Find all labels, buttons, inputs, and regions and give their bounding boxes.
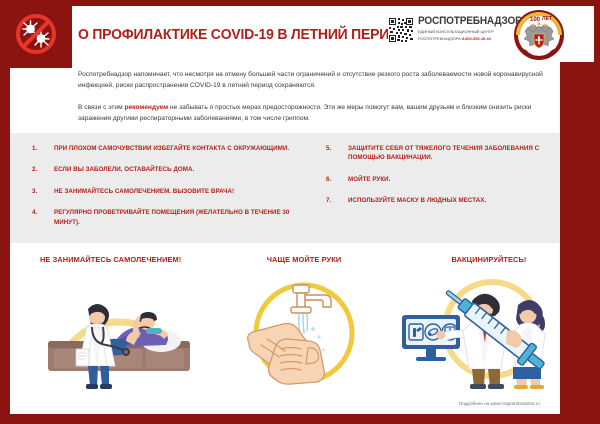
hotline-phone: 8-800-555-49-43 <box>462 36 491 41</box>
tip-text: ЕСЛИ ВЫ ЗАБОЛЕЛИ, ОСТАВАЙТЕСЬ ДОМА. <box>54 166 194 173</box>
org-subtitle-line1: ЕДИНЫЙ КОНСУЛЬТАЦИОННЫЙ ЦЕНТР <box>418 29 518 34</box>
no-virus-icon <box>12 10 60 58</box>
tips-column-right: 5. ЗАЩИТИТЕ СЕБЯ ОТ ТЯЖЕЛОГО ТЕЧЕНИЯ ЗАБ… <box>326 144 576 218</box>
section-title: ВАКЦИНИРУЙТЕСЬ! <box>400 255 578 264</box>
tip-number: 1. <box>32 144 48 153</box>
tip-number: 6. <box>326 175 342 184</box>
tip-item: 1. ПРИ ПЛОХОМ САМОЧУВСТВИИ ИЗБЕГАЙТЕ КОН… <box>32 144 312 153</box>
org-identity: РОСПОТРЕБНАДЗОР ЕДИНЫЙ КОНСУЛЬТАЦИОННЫЙ … <box>418 15 518 41</box>
tip-text: ПРИ ПЛОХОМ САМОЧУВСТВИИ ИЗБЕГАЙТЕ КОНТАК… <box>54 145 289 152</box>
org-subtitle-prefix: РОСПОТРЕБНАДЗОРА <box>418 36 461 41</box>
intro-text: Роспотребнадзор напоминает, что несмотря… <box>78 70 544 124</box>
footer-note: Подробнее на www.rospotrebnadzor.ru <box>0 401 552 406</box>
tip-number: 7. <box>326 196 342 205</box>
rospotrebnadzor-emblem-icon: 100 ЛЕТ <box>508 8 570 62</box>
header: О ПРОФИЛАКТИКЕ COVID-19 В ЛЕТНИЙ ПЕРИОД <box>0 0 600 68</box>
doctor-examining-patient-illustration <box>30 271 208 389</box>
washing-hands-under-tap-illustration <box>215 271 393 389</box>
tip-text: МОЙТЕ РУКИ. <box>348 176 390 183</box>
section-wash-hands: ЧАЩЕ МОЙТЕ РУКИ <box>215 255 393 400</box>
tip-text: ЗАЩИТИТЕ СЕБЯ ОТ ТЯЖЕЛОГО ТЕЧЕНИЯ ЗАБОЛЕ… <box>348 145 539 161</box>
tip-number: 4. <box>32 208 48 217</box>
section-title: НЕ ЗАНИМАЙТЕСЬ САМОЛЕЧЕНИЕМ! <box>30 255 208 264</box>
tip-text: ИСПОЛЬЗУЙТЕ МАСКУ В ЛЮДНЫХ МЕСТАХ. <box>348 197 486 204</box>
intro-paragraph-1: Роспотребнадзор напоминает, что несмотря… <box>78 70 544 91</box>
tips-panel: 1. ПРИ ПЛОХОМ САМОЧУВСТВИИ ИЗБЕГАЙТЕ КОН… <box>10 133 560 243</box>
org-subtitle-line2: РОСПОТРЕБНАДЗОРА 8-800-555-49-43 <box>418 36 518 41</box>
advice-sections: НЕ ЗАНИМАЙТЕСЬ САМОЛЕЧЕНИЕМ! <box>10 255 560 400</box>
tip-number: 5. <box>326 144 342 153</box>
tip-item: 6. МОЙТЕ РУКИ. <box>326 175 576 184</box>
intro-p2-before: В связи с этим <box>78 104 124 111</box>
tip-number: 2. <box>32 165 48 174</box>
tips-column-left: 1. ПРИ ПЛОХОМ САМОЧУВСТВИИ ИЗБЕГАЙТЕ КОН… <box>32 144 312 239</box>
emblem-years-label: ЛЕТ <box>542 16 552 22</box>
section-title: ЧАЩЕ МОЙТЕ РУКИ <box>215 255 393 264</box>
tip-text: НЕ ЗАНИМАЙТЕСЬ САМОЛЕЧЕНИЕМ. ВЫЗОВИТЕ ВР… <box>54 188 234 195</box>
tip-item: 3. НЕ ЗАНИМАЙТЕСЬ САМОЛЕЧЕНИЕМ. ВЫЗОВИТЕ… <box>32 187 312 196</box>
org-name: РОСПОТРЕБНАДЗОР <box>418 15 513 27</box>
tip-item: 5. ЗАЩИТИТЕ СЕБЯ ОТ ТЯЖЕЛОГО ТЕЧЕНИЯ ЗАБ… <box>326 144 576 163</box>
poster-root: О ПРОФИЛАКТИКЕ COVID-19 В ЛЕТНИЙ ПЕРИОД <box>0 0 600 424</box>
tip-item: 4. РЕГУЛЯРНО ПРОВЕТРИВАЙТЕ ПОМЕЩЕНИЯ (ЖЕ… <box>32 208 312 227</box>
qr-code-icon <box>388 17 414 43</box>
tip-item: 2. ЕСЛИ ВЫ ЗАБОЛЕЛИ, ОСТАВАЙТЕСЬ ДОМА. <box>32 165 312 174</box>
tip-item: 7. ИСПОЛЬЗУЙТЕ МАСКУ В ЛЮДНЫХ МЕСТАХ. <box>326 196 576 205</box>
tip-text: РЕГУЛЯРНО ПРОВЕТРИВАЙТЕ ПОМЕЩЕНИЯ (ЖЕЛАТ… <box>54 209 289 225</box>
intro-p2-highlight: рекомендуем <box>124 104 168 111</box>
intro-paragraph-2: В связи с этим рекомендуем не забывать о… <box>78 103 544 124</box>
section-vaccination: ВАКЦИНИРУЙТЕСЬ! <box>400 255 578 400</box>
tip-number: 3. <box>32 187 48 196</box>
doctors-with-syringe-illustration <box>400 271 578 389</box>
page-title: О ПРОФИЛАКТИКЕ COVID-19 В ЛЕТНИЙ ПЕРИОД <box>78 27 409 43</box>
section-self-medication: НЕ ЗАНИМАЙТЕСЬ САМОЛЕЧЕНИЕМ! <box>30 255 208 400</box>
